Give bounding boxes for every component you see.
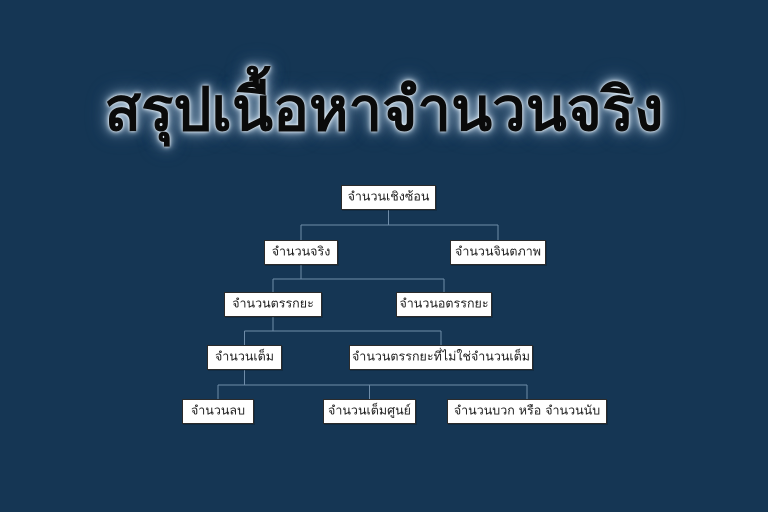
tree-node-irrational: จำนวนอตรรกยะ — [396, 292, 492, 317]
tree-node-label: จำนวนเชิงซ้อน — [346, 191, 432, 204]
concept-tree-diagram: จำนวนเชิงซ้อนจำนวนจริงจำนวนจินตภาพจำนวนต… — [0, 0, 768, 512]
tree-connector-lines — [0, 0, 768, 512]
tree-node-imaginary: จำนวนจินตภาพ — [450, 240, 546, 265]
tree-node-label: จำนวนตรรกยะ — [230, 298, 316, 311]
slide-canvas: สรุปเนื้อหาจำนวนจริง จำนวนเชิงซ้อนจำนวนจ… — [0, 0, 768, 512]
tree-node-complex: จำนวนเชิงซ้อน — [341, 185, 436, 210]
tree-node-integer: จำนวนเต็ม — [207, 345, 282, 370]
tree-node-negative: จำนวนลบ — [182, 399, 254, 424]
tree-node-label: จำนวนตรรกยะที่ไม่ใช่จำนวนเต็ม — [350, 351, 532, 364]
tree-node-label: จำนวนลบ — [189, 405, 247, 418]
tree-node-label: จำนวนเต็มศูนย์ — [326, 405, 413, 418]
tree-node-label: จำนวนจริง — [270, 246, 333, 259]
tree-node-label: จำนวนเต็ม — [213, 351, 276, 364]
tree-node-zero: จำนวนเต็มศูนย์ — [323, 399, 416, 424]
tree-node-real: จำนวนจริง — [264, 240, 338, 265]
tree-node-label: จำนวนอตรรกยะ — [397, 298, 490, 311]
tree-node-positive: จำนวนบวก หรือ จำนวนนับ — [447, 399, 607, 424]
tree-node-rational: จำนวนตรรกยะ — [224, 292, 322, 317]
tree-node-noninteger: จำนวนตรรกยะที่ไม่ใช่จำนวนเต็ม — [349, 345, 533, 370]
tree-node-label: จำนวนบวก หรือ จำนวนนับ — [452, 405, 602, 418]
tree-node-label: จำนวนจินตภาพ — [453, 246, 543, 259]
